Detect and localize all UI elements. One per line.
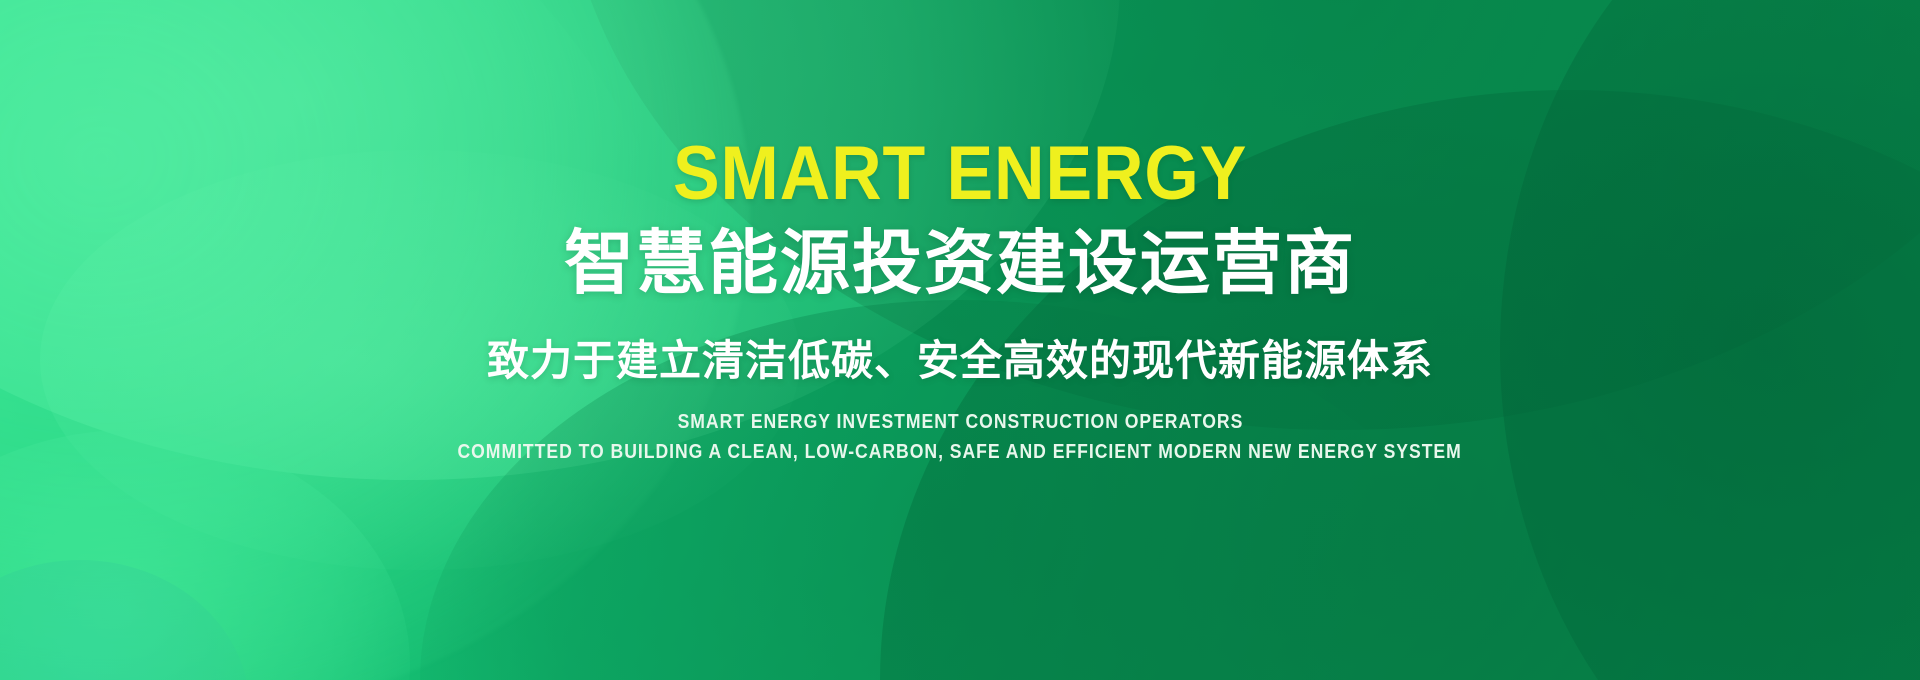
banner-caption-line-2: COMMITTED TO BUILDING A CLEAN, LOW-CARBO… bbox=[458, 439, 1462, 466]
banner-title-chinese: 智慧能源投资建设运营商 bbox=[564, 226, 1356, 300]
banner-caption-line-1: SMART ENERGY INVESTMENT CONSTRUCTION OPE… bbox=[677, 409, 1243, 436]
banner-title-english: SMART ENERGY bbox=[673, 136, 1247, 212]
hero-banner: SMART ENERGY 智慧能源投资建设运营商 致力于建立清洁低碳、安全高效的… bbox=[0, 0, 1920, 680]
banner-subtitle-chinese: 致力于建立清洁低碳、安全高效的现代新能源体系 bbox=[487, 336, 1433, 386]
banner-content: SMART ENERGY 智慧能源投资建设运营商 致力于建立清洁低碳、安全高效的… bbox=[0, 0, 1920, 680]
